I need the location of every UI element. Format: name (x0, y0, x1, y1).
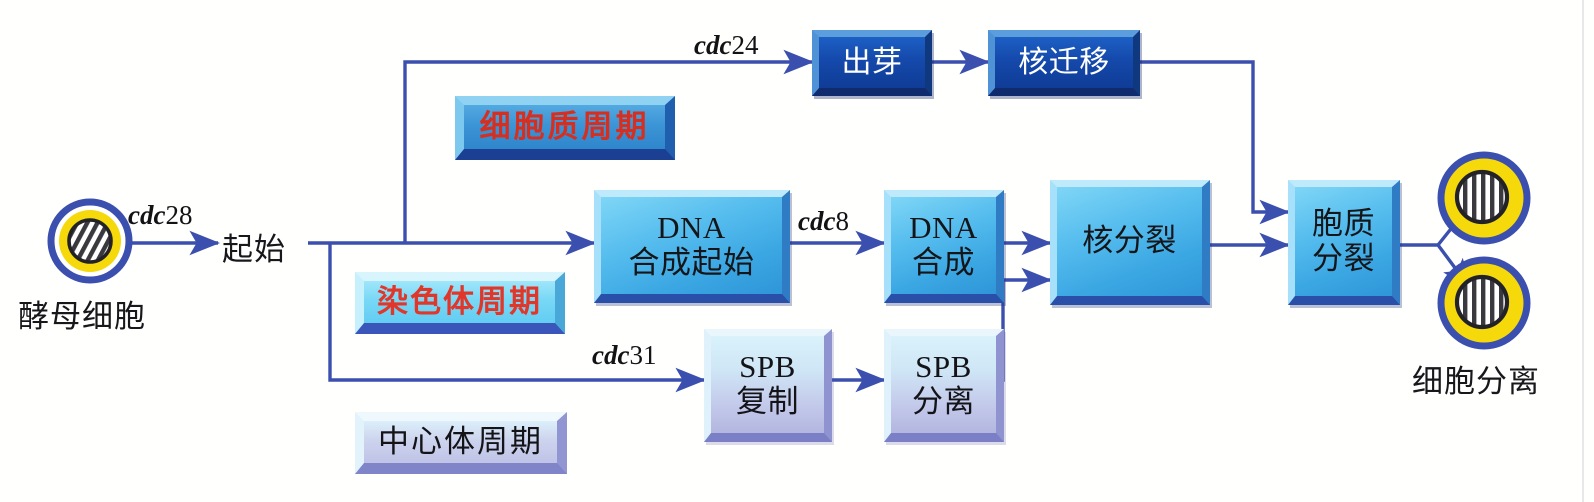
cdc24-prefix: cdc (694, 30, 731, 60)
node-start: 起始 (222, 224, 286, 269)
node-cytokinesis[interactable]: 胞质 分裂 (1288, 180, 1400, 305)
node-dna-synthesis-initiation[interactable]: DNA 合成起始 (594, 190, 790, 303)
gene-label-cdc8: cdc8 (798, 206, 849, 237)
yeast-daughter-cell-bottom-icon (1436, 255, 1532, 351)
node-nuclear-migration[interactable]: 核迁移 (988, 30, 1140, 96)
legend-cytoplasmic-cycle: 细胞质周期 (455, 96, 675, 160)
daughter-cells-label: 细胞分离 (1412, 356, 1540, 401)
yeast-daughter-cell-top-icon (1436, 150, 1532, 246)
cdc31-prefix: cdc (592, 340, 629, 370)
node-nuclear-division[interactable]: 核分裂 (1050, 180, 1210, 305)
cdc24-number: 24 (731, 30, 758, 60)
cell-cycle-diagram: 酵母细胞 cdc28 起始 cdc24 出芽 核迁移 细胞质周期 DNA 合成起… (0, 0, 1594, 502)
gene-label-cdc24: cdc24 (694, 30, 758, 61)
node-budding[interactable]: 出芽 (812, 30, 932, 96)
mother-cell-label: 酵母细胞 (18, 291, 146, 336)
gene-label-cdc28: cdc28 (128, 200, 192, 231)
node-spb-separation[interactable]: SPB 分离 (884, 329, 1004, 442)
cdc28-number: 28 (165, 200, 192, 230)
node-dna-synthesis[interactable]: DNA 合成 (884, 190, 1004, 303)
legend-centrosome-cycle: 中心体周期 (355, 412, 567, 474)
cdc8-prefix: cdc (798, 206, 835, 236)
cdc8-number: 8 (835, 206, 849, 236)
node-spb-duplication[interactable]: SPB 复制 (704, 329, 832, 442)
cdc28-prefix: cdc (128, 200, 165, 230)
yeast-mother-cell-icon (47, 198, 133, 284)
legend-chromosome-cycle: 染色体周期 (355, 272, 565, 334)
gene-label-cdc31: cdc31 (592, 340, 656, 371)
cdc31-number: 31 (629, 340, 656, 370)
